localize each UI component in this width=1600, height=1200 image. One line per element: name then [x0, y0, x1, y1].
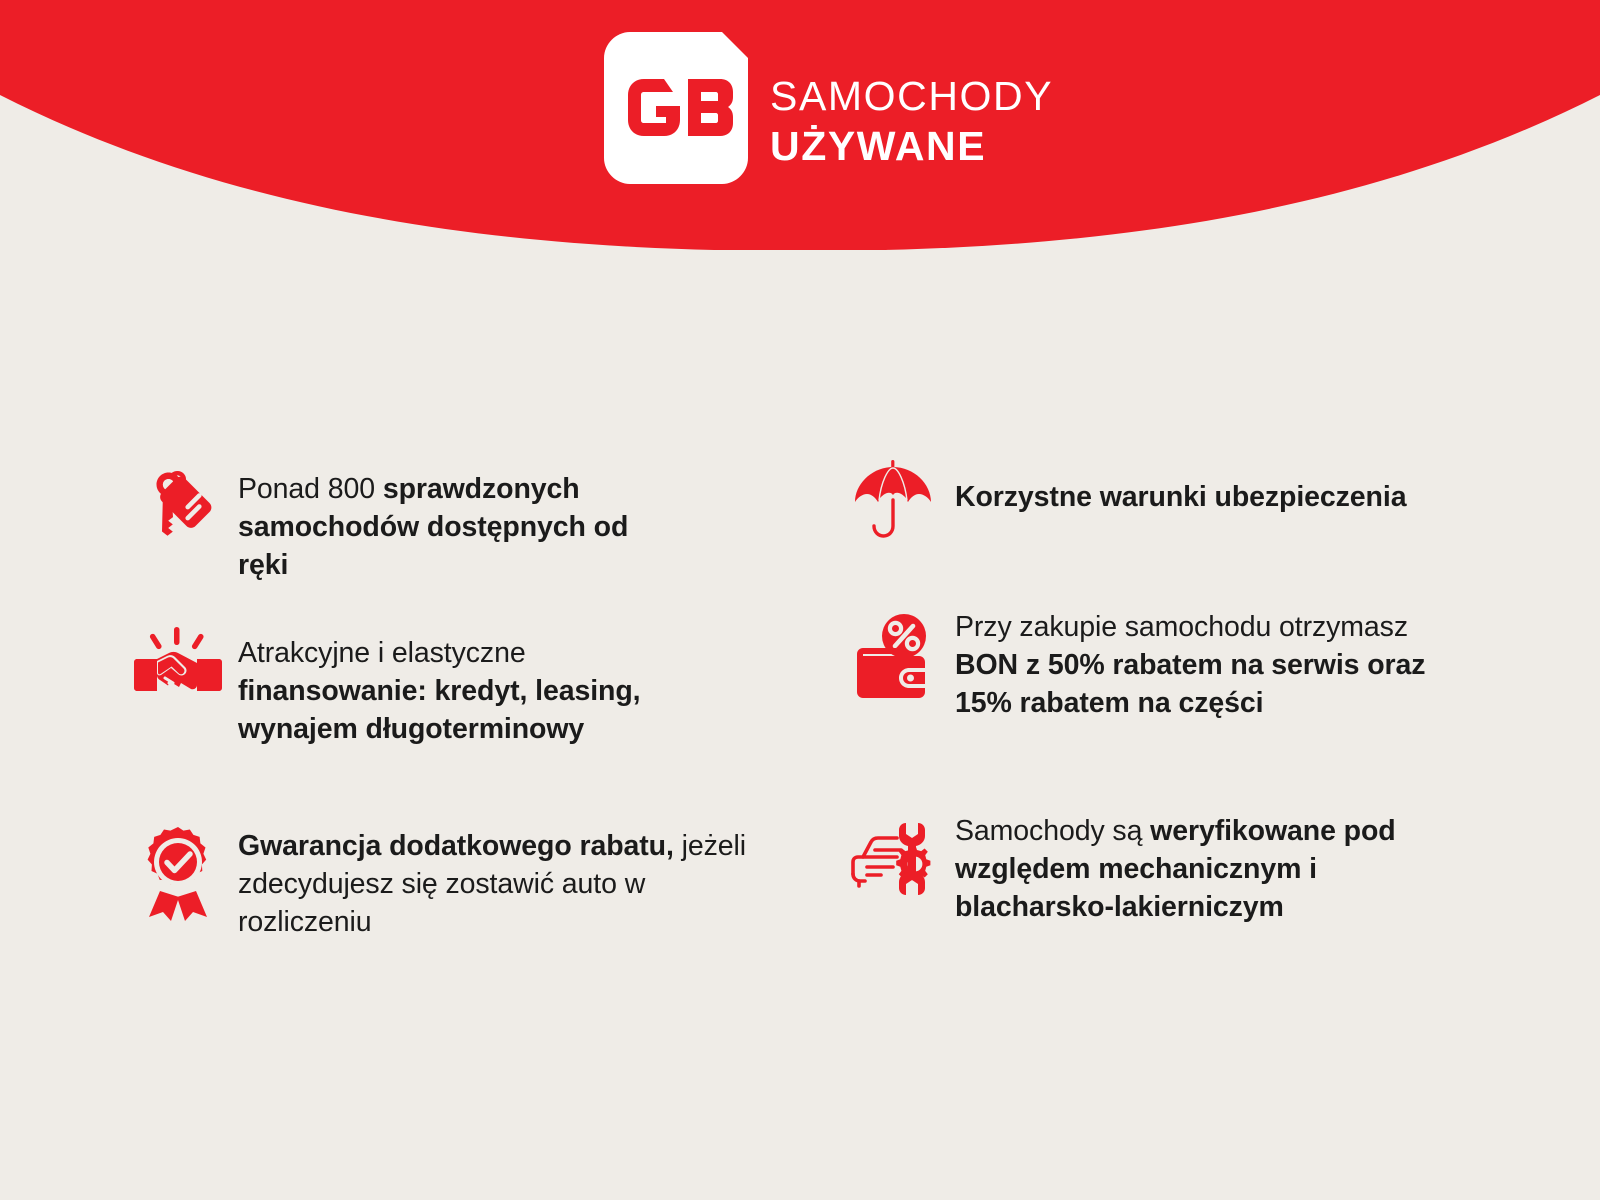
- brand-lockup: SAMOCHODY UŻYWANE: [604, 32, 1053, 184]
- feature-item-insurance: Korzystne warunki ubezpieczenia: [845, 452, 1515, 548]
- brand-title-line1: SAMOCHODY: [770, 76, 1053, 117]
- header-banner: SAMOCHODY UŻYWANE: [0, 0, 1600, 250]
- car-key-icon: [128, 454, 224, 550]
- umbrella-icon: [845, 452, 941, 548]
- feature-text-run-bold: Gwarancja dodatkowego rabatu,: [238, 830, 682, 862]
- feature-text-insurance: Korzystne warunki ubezpieczenia: [955, 452, 1515, 516]
- feature-item-verification: Samochody są weryfikowane pod względem m…: [845, 812, 1465, 926]
- award-badge-icon: [130, 825, 226, 921]
- feature-text-financing: Atrakcyjne i elastyczne finansowanie: kr…: [238, 618, 678, 748]
- gb-logo-icon: [604, 32, 748, 184]
- handshake-icon: [130, 618, 226, 714]
- feature-item-keys: Ponad 800 sprawdzonych samochodów dostęp…: [128, 454, 658, 584]
- wallet-percent-icon: [845, 608, 941, 704]
- feature-text-verification: Samochody są weryfikowane pod względem m…: [955, 812, 1465, 926]
- feature-text-run: Samochody są: [955, 815, 1150, 847]
- feature-text-run-bold: finansowanie: kredyt, leasing, wynajem d…: [238, 675, 640, 745]
- feature-text-run: Przy zakupie samochodu otrzymasz: [955, 611, 1408, 643]
- feature-text-keys: Ponad 800 sprawdzonych samochodów dostęp…: [238, 454, 658, 584]
- feature-item-financing: Atrakcyjne i elastyczne finansowanie: kr…: [130, 618, 678, 748]
- brand-wordmark: SAMOCHODY UŻYWANE: [770, 50, 1053, 167]
- feature-text-run-bold: Korzystne warunki ubezpieczenia: [955, 481, 1406, 513]
- feature-text-guarantee: Gwarancja dodatkowego rabatu, jeżeli zde…: [238, 825, 768, 941]
- feature-item-voucher: Przy zakupie samochodu otrzymasz BON z 5…: [845, 608, 1455, 722]
- feature-text-voucher: Przy zakupie samochodu otrzymasz BON z 5…: [955, 608, 1455, 722]
- feature-text-run: Ponad 800: [238, 473, 383, 505]
- feature-item-guarantee: Gwarancja dodatkowego rabatu, jeżeli zde…: [130, 825, 768, 941]
- feature-text-run: Atrakcyjne i elastyczne: [238, 637, 526, 669]
- brand-title-line2: UŻYWANE: [770, 126, 1053, 167]
- feature-text-run-bold: BON z 50% rabatem na serwis oraz 15% rab…: [955, 649, 1425, 719]
- car-service-icon: [845, 812, 941, 908]
